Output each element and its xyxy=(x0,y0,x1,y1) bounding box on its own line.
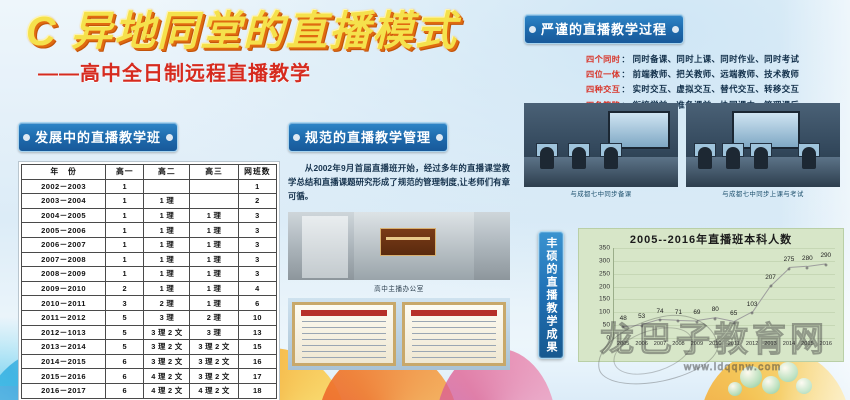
chart-data-label: 103 xyxy=(747,301,758,308)
cell-value: 18 xyxy=(238,383,276,398)
cell-value: 5 xyxy=(106,310,144,325)
chart-y-tick: 200 xyxy=(599,283,610,290)
process-lines: 四个同时：同时备课、同时上课、同时作业、同时考试四位一体：前端教师、把关教师、远… xyxy=(524,53,840,111)
photo-classroom-prep xyxy=(524,103,678,187)
photo-office-caption: 高中主播办公室 xyxy=(288,283,510,293)
cell-value: 5 xyxy=(106,325,144,340)
bubble xyxy=(740,366,762,388)
cell-value: 3 理 2 文 xyxy=(190,354,238,369)
photo-caption-lesson: 与成都七中同步上课与考试 xyxy=(686,189,840,198)
table-row: 2016－201764 理 2 文4 理 2 文18 xyxy=(22,383,277,398)
chart-x-tick: 2014 xyxy=(783,341,795,347)
process-row: 四个同时：同时备课、同时上课、同时作业、同时考试 xyxy=(586,53,840,65)
cell-year: 2010－2011 xyxy=(22,296,106,311)
chart-line-segment xyxy=(789,266,807,268)
process-panel: 严谨的直播教学过程 四个同时：同时备课、同时上课、同时作业、同时考试四位一体：前… xyxy=(524,14,840,114)
cell-value: 17 xyxy=(238,369,276,384)
process-row-colon: ： xyxy=(621,53,629,65)
chart-x-tick: 2005 xyxy=(617,341,629,347)
cell-value: 1 xyxy=(106,267,144,282)
cell-year: 2013－2014 xyxy=(22,340,106,355)
chart-data-label: 207 xyxy=(765,274,776,281)
right-photo-row xyxy=(524,103,840,187)
cell-value xyxy=(190,179,238,194)
chart-data-point xyxy=(659,319,662,322)
cell-value: 15 xyxy=(238,340,276,355)
chart-x-tick: 2008 xyxy=(672,341,684,347)
cell-value: 1 理 xyxy=(190,267,238,282)
process-row-key: 四种交互 xyxy=(586,83,620,95)
chart-x-tick: 2007 xyxy=(654,341,666,347)
cell-year: 2015－2016 xyxy=(22,369,106,384)
chart-line-segment xyxy=(807,263,826,267)
table-row: 2007－200811 理1 理3 xyxy=(22,252,277,267)
table-header-row: 年 份 高一 高二 高三 网班数 xyxy=(22,165,277,180)
chart-y-tick: 250 xyxy=(599,270,610,277)
table-row: 2006－200711 理1 理3 xyxy=(22,237,277,252)
chart-y-tick: 100 xyxy=(599,309,610,316)
chart-y-tick: 350 xyxy=(599,245,610,252)
cell-value: 1 理 xyxy=(190,296,238,311)
photo-office-door xyxy=(302,216,348,278)
chart-data-point xyxy=(751,312,754,315)
chart-data-label: 53 xyxy=(638,313,645,320)
process-row-value: 实时交互、虚拟交互、替代交互、转移交互 xyxy=(633,83,800,95)
chart-data-point xyxy=(714,317,717,320)
undergrad-count-chart: 2005--2016年直播班本科人数 050100150200250300350… xyxy=(578,228,844,362)
cell-year: 2016－2017 xyxy=(22,383,106,398)
photo-caption-prep: 与成都七中同步备课 xyxy=(524,189,678,198)
cell-year: 2004－2005 xyxy=(22,208,106,223)
chart-gridline xyxy=(614,338,835,339)
cell-value: 1 理 xyxy=(144,252,190,267)
cell-value: 3 xyxy=(238,237,276,252)
table-row: 2008－200911 理1 理3 xyxy=(22,267,277,282)
cell-year: 2002－2003 xyxy=(22,179,106,194)
chart-data-point xyxy=(622,326,625,329)
table-row: 2005－200611 理1 理3 xyxy=(22,223,277,238)
cell-value: 1 xyxy=(106,194,144,209)
cell-value: 4 理 2 文 xyxy=(190,383,238,398)
chart-y-tick: 50 xyxy=(603,322,610,329)
chart-gridline xyxy=(614,325,835,326)
bubble xyxy=(762,376,780,394)
cell-value: 1 xyxy=(106,223,144,238)
chart-x-tick: 2009 xyxy=(691,341,703,347)
chart-data-label: 80 xyxy=(712,306,719,313)
process-row-value: 前端教师、把关教师、远端教师、技术教师 xyxy=(633,68,800,80)
left-panel: 发展中的直播教学班 年 份 高一 高二 高三 网班数 2002－20031120… xyxy=(18,122,280,400)
cell-value xyxy=(190,194,238,209)
cell-value: 1 理 xyxy=(190,223,238,238)
chart-data-point xyxy=(677,320,680,323)
mid-panel: 规范的直播教学管理 从2002年9月首届直播班开始，经过多年的直播课堂教学总结和… xyxy=(288,122,510,370)
table-row: 2012－101353 理 2 文3 理13 xyxy=(22,325,277,340)
chart-x-tick: 2011 xyxy=(728,341,740,347)
cell-year: 2003－2004 xyxy=(22,194,106,209)
col-header-year: 年 份 xyxy=(22,165,106,180)
cell-year: 2012－1013 xyxy=(22,325,106,340)
cell-value: 3 理 2 文 xyxy=(144,340,190,355)
chart-x-tick: 2012 xyxy=(746,341,758,347)
process-panel-heading: 严谨的直播教学过程 xyxy=(524,14,684,44)
chart-line-segment xyxy=(660,319,678,321)
chart-x-tick: 2006 xyxy=(635,341,647,347)
chart-data-label: 65 xyxy=(730,310,737,317)
process-row: 四种交互：实时交互、虚拟交互、替代交互、转移交互 xyxy=(586,83,840,95)
cell-value: 1 xyxy=(106,252,144,267)
cell-value: 3 理 xyxy=(190,325,238,340)
cell-value: 13 xyxy=(238,325,276,340)
cell-value: 4 理 2 文 xyxy=(144,369,190,384)
results-vertical-label: 丰硕的直播教学成果 xyxy=(538,231,564,359)
chart-gridline xyxy=(614,248,835,249)
left-panel-heading: 发展中的直播教学班 xyxy=(18,122,178,152)
cell-value: 1 理 xyxy=(190,281,238,296)
chart-data-point xyxy=(806,266,809,269)
table-row: 2013－201453 理 2 文3 理 2 文15 xyxy=(22,340,277,355)
chart-plot-area: 0501001502002503003502005200620072008200… xyxy=(613,248,835,339)
bubble xyxy=(796,378,812,394)
chart-x-tick: 2013 xyxy=(764,341,776,347)
cell-year: 2008－2009 xyxy=(22,267,106,282)
col-header-g1: 高一 xyxy=(106,165,144,180)
chart-data-point xyxy=(640,324,643,327)
chart-data-label: 290 xyxy=(820,252,831,259)
chart-gridline xyxy=(614,299,835,300)
chart-line-segment xyxy=(697,317,716,321)
col-header-g3: 高三 xyxy=(190,165,238,180)
cell-value: 2 理 xyxy=(190,310,238,325)
cell-value: 3 理 2 文 xyxy=(144,354,190,369)
cell-year: 2011－2012 xyxy=(22,310,106,325)
cell-value: 5 xyxy=(106,340,144,355)
cell-value: 6 xyxy=(106,383,144,398)
cell-value: 4 xyxy=(238,281,276,296)
chart-data-label: 71 xyxy=(675,309,682,316)
cell-value: 16 xyxy=(238,354,276,369)
cell-value: 3 理 xyxy=(144,310,190,325)
cell-value: 1 理 xyxy=(190,237,238,252)
cell-year: 2006－2007 xyxy=(22,237,106,252)
class-table-wrap: 年 份 高一 高二 高三 网班数 2002－2003112003－200411 … xyxy=(18,161,280,400)
chart-line-segment xyxy=(678,320,696,322)
chart-x-tick: 2015 xyxy=(801,341,813,347)
photo-classroom-lesson xyxy=(686,103,840,187)
table-row: 2011－201253 理2 理10 xyxy=(22,310,277,325)
chart-data-label: 69 xyxy=(693,309,700,316)
cell-value: 3 理 2 文 xyxy=(144,325,190,340)
process-row-colon: ： xyxy=(621,68,629,80)
table-row: 2010－201132 理1 理6 xyxy=(22,296,277,311)
cell-value: 3 xyxy=(238,267,276,282)
chart-gridline xyxy=(614,312,835,313)
process-row-colon: ： xyxy=(621,83,629,95)
cell-value: 3 xyxy=(238,223,276,238)
table-row: 2003－200411 理2 xyxy=(22,194,277,209)
col-header-count: 网班数 xyxy=(238,165,276,180)
chart-x-tick: 2016 xyxy=(820,341,832,347)
process-row: 四位一体：前端教师、把关教师、远端教师、技术教师 xyxy=(586,68,840,80)
cell-value: 10 xyxy=(238,310,276,325)
chart-data-point xyxy=(824,263,827,266)
chart-y-tick: 300 xyxy=(599,257,610,264)
chart-gridline xyxy=(614,274,835,275)
cell-value: 1 理 xyxy=(144,194,190,209)
chart-data-point xyxy=(787,267,790,270)
table-body: 2002－2003112003－200411 理22004－200511 理1 … xyxy=(22,179,277,398)
cell-value: 3 xyxy=(238,252,276,267)
right-photo-captions: 与成都七中同步备课 与成都七中同步上课与考试 xyxy=(524,189,840,198)
doc-board-left xyxy=(292,302,396,366)
cell-value: 6 xyxy=(106,354,144,369)
col-header-g2: 高二 xyxy=(144,165,190,180)
cell-value: 1 理 xyxy=(144,223,190,238)
cell-value: 1 理 xyxy=(144,237,190,252)
cell-value: 1 xyxy=(106,208,144,223)
chart-y-tick: 0 xyxy=(606,335,610,342)
table-row: 2014－201563 理 2 文3 理 2 文16 xyxy=(22,354,277,369)
chart-data-label: 48 xyxy=(620,315,627,322)
chart-gridline xyxy=(614,287,835,288)
cell-value: 2 xyxy=(238,194,276,209)
class-growth-table: 年 份 高一 高二 高三 网班数 2002－2003112003－200411 … xyxy=(21,164,277,399)
cell-year: 2014－2015 xyxy=(22,354,106,369)
cell-value: 1 理 xyxy=(144,267,190,282)
chart-data-point xyxy=(769,285,772,288)
cell-value: 1 xyxy=(106,179,144,194)
doc-board-title-bar xyxy=(411,310,497,316)
mid-panel-paragraph: 从2002年9月首届直播班开始，经过多年的直播课堂教学总结和直播课题研究形成了规… xyxy=(288,162,510,204)
cell-value: 1 xyxy=(106,237,144,252)
bubble xyxy=(728,382,742,396)
cell-value: 2 xyxy=(106,281,144,296)
doc-board-right xyxy=(402,302,506,366)
process-row-key: 四位一体 xyxy=(586,68,620,80)
table-row: 2009－201021 理1 理4 xyxy=(22,281,277,296)
cell-value: 1 理 xyxy=(144,208,190,223)
cell-value xyxy=(144,179,190,194)
cell-value: 1 理 xyxy=(144,281,190,296)
cell-value: 1 理 xyxy=(190,208,238,223)
chart-line-segment xyxy=(752,285,771,312)
chart-data-point xyxy=(732,321,735,324)
cell-value: 1 xyxy=(238,179,276,194)
cell-value: 6 xyxy=(106,369,144,384)
cell-value: 6 xyxy=(238,296,276,311)
chart-data-point xyxy=(695,320,698,323)
cell-year: 2009－2010 xyxy=(22,281,106,296)
table-row: 2015－201664 理 2 文3 理 2 文17 xyxy=(22,369,277,384)
cell-value: 3 理 2 文 xyxy=(190,340,238,355)
table-row: 2004－200511 理1 理3 xyxy=(22,208,277,223)
process-row-value: 同时备课、同时上课、同时作业、同时考试 xyxy=(633,53,800,65)
page-subtitle: ——高中全日制远程直播教学 xyxy=(38,57,526,86)
photo-office-sign xyxy=(380,228,436,256)
cell-value: 3 理 2 文 xyxy=(190,369,238,384)
mid-panel-heading: 规范的直播教学管理 xyxy=(288,122,448,152)
page-title: C 异地同堂的直播模式 xyxy=(26,10,526,53)
photo-regulation-boards xyxy=(288,298,510,370)
bubble xyxy=(778,362,798,382)
chart-x-tick: 2010 xyxy=(709,341,721,347)
title-block: C 异地同堂的直播模式 ——高中全日制远程直播教学 xyxy=(26,10,526,86)
cell-value: 3 xyxy=(106,296,144,311)
chart-data-label: 275 xyxy=(784,256,795,263)
chart-data-label: 74 xyxy=(656,308,663,315)
cell-year: 2007－2008 xyxy=(22,252,106,267)
chart-title: 2005--2016年直播班本科人数 xyxy=(579,231,843,247)
photo-office xyxy=(288,212,510,280)
cell-value: 2 理 xyxy=(144,296,190,311)
cell-value: 1 理 xyxy=(190,252,238,267)
table-row: 2002－200311 xyxy=(22,179,277,194)
chart-data-label: 280 xyxy=(802,255,813,262)
chart-line-segment xyxy=(715,317,734,322)
poster-root: C 异地同堂的直播模式 ——高中全日制远程直播教学 发展中的直播教学班 年 份 … xyxy=(0,0,850,400)
doc-board-title-bar xyxy=(301,310,387,316)
cell-year: 2005－2006 xyxy=(22,223,106,238)
chart-y-tick: 150 xyxy=(599,296,610,303)
cell-value: 4 理 2 文 xyxy=(144,383,190,398)
cell-value: 3 xyxy=(238,208,276,223)
process-row-key: 四个同时 xyxy=(586,53,620,65)
